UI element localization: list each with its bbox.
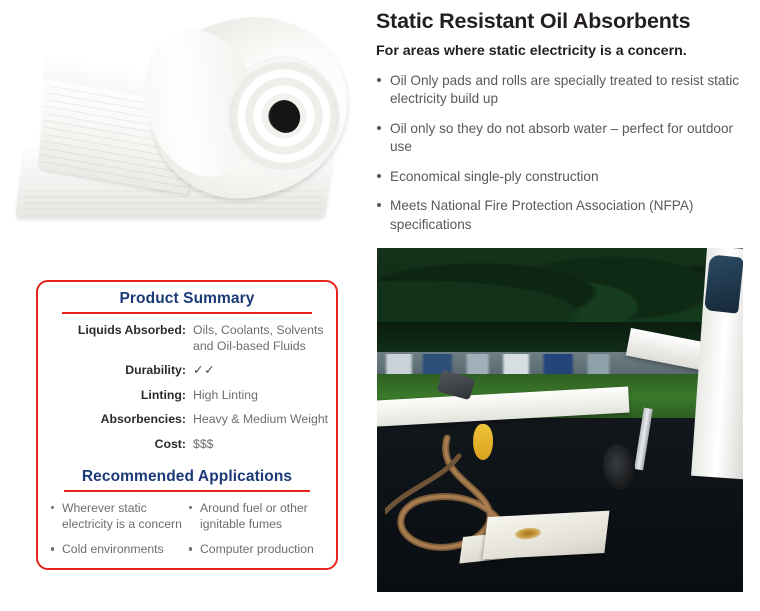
aircraft-window xyxy=(704,254,743,313)
feature-item: Oil Only pads and rolls are specially tr… xyxy=(376,72,748,109)
list-item: Around fuel or other ignitable fumes xyxy=(188,501,326,533)
table-row: Durability: ✓✓ xyxy=(38,363,336,388)
recommended-applications-columns: Wherever static electricity is a concern… xyxy=(38,501,336,569)
bullet-icon xyxy=(377,126,381,130)
spec-label: Absorbencies: xyxy=(38,412,193,437)
spec-label: Linting: xyxy=(38,388,193,413)
page-subtitle: For areas where static electricity is a … xyxy=(376,43,748,60)
application-list: Around fuel or other ignitable fumes Com… xyxy=(188,501,326,559)
product-summary-heading: Product Summary xyxy=(38,290,336,308)
application-photo xyxy=(377,248,743,592)
headline-block: Static Resistant Oil Absorbents For area… xyxy=(376,0,748,245)
recommended-applications-heading: Recommended Applications xyxy=(38,468,336,486)
spec-value: Oils, Coolants, Solvents and Oil-based F… xyxy=(193,323,336,363)
product-summary-table: Liquids Absorbed: Oils, Coolants, Solven… xyxy=(38,323,336,462)
recommended-applications-heading-wrap: Recommended Applications xyxy=(38,468,336,492)
application-text: Computer production xyxy=(200,542,314,556)
application-text: Around fuel or other ignitable fumes xyxy=(200,501,308,531)
feature-item: Economical single-ply construction xyxy=(376,168,748,186)
feature-list: Oil Only pads and rolls are specially tr… xyxy=(376,72,748,234)
list-item: Cold environments xyxy=(50,542,188,558)
bullet-icon xyxy=(377,203,381,207)
spec-value: Heavy & Medium Weight xyxy=(193,412,336,437)
application-text: Cold environments xyxy=(62,542,164,556)
bullet-icon xyxy=(377,78,381,82)
list-item: Wherever static electricity is a concern xyxy=(50,501,188,533)
feature-text: Economical single-ply construction xyxy=(390,169,599,184)
cost-rating: $$$ xyxy=(193,437,336,462)
bullet-icon xyxy=(189,506,192,509)
bullet-icon xyxy=(377,174,381,178)
absorbent-pad-on-tarmac xyxy=(482,511,609,560)
spec-label: Cost: xyxy=(38,437,193,462)
spec-label: Durability: xyxy=(38,363,193,388)
product-summary-box: Product Summary Liquids Absorbed: Oils, … xyxy=(36,280,338,570)
application-text: Wherever static electricity is a concern xyxy=(62,501,182,531)
feature-text: Meets National Fire Protection Associati… xyxy=(390,198,693,231)
list-item: Computer production xyxy=(188,542,326,558)
spec-value: High Linting xyxy=(193,388,336,413)
table-row: Cost: $$$ xyxy=(38,437,336,462)
feature-item: Meets National Fire Protection Associati… xyxy=(376,197,748,234)
table-row: Linting: High Linting xyxy=(38,388,336,413)
durability-rating: ✓✓ xyxy=(193,363,336,388)
feature-item: Oil only so they do not absorb water – p… xyxy=(376,120,748,157)
table-row: Absorbencies: Heavy & Medium Weight xyxy=(38,412,336,437)
heading-divider xyxy=(64,490,310,492)
application-list: Wherever static electricity is a concern… xyxy=(50,501,188,559)
bullet-icon xyxy=(189,547,192,550)
feature-text: Oil Only pads and rolls are specially tr… xyxy=(390,73,739,106)
spec-label: Liquids Absorbed: xyxy=(38,323,193,363)
applications-column-left: Wherever static electricity is a concern… xyxy=(50,501,188,569)
page-title: Static Resistant Oil Absorbents xyxy=(376,9,748,34)
applications-column-right: Around fuel or other ignitable fumes Com… xyxy=(188,501,326,569)
bullet-icon xyxy=(51,547,54,550)
table-row: Liquids Absorbed: Oils, Coolants, Solven… xyxy=(38,323,336,363)
bullet-icon xyxy=(51,506,54,509)
product-photo xyxy=(0,0,370,240)
feature-text: Oil only so they do not absorb water – p… xyxy=(390,121,733,154)
product-summary-heading-wrap: Product Summary xyxy=(38,282,336,314)
heading-divider xyxy=(62,312,312,314)
